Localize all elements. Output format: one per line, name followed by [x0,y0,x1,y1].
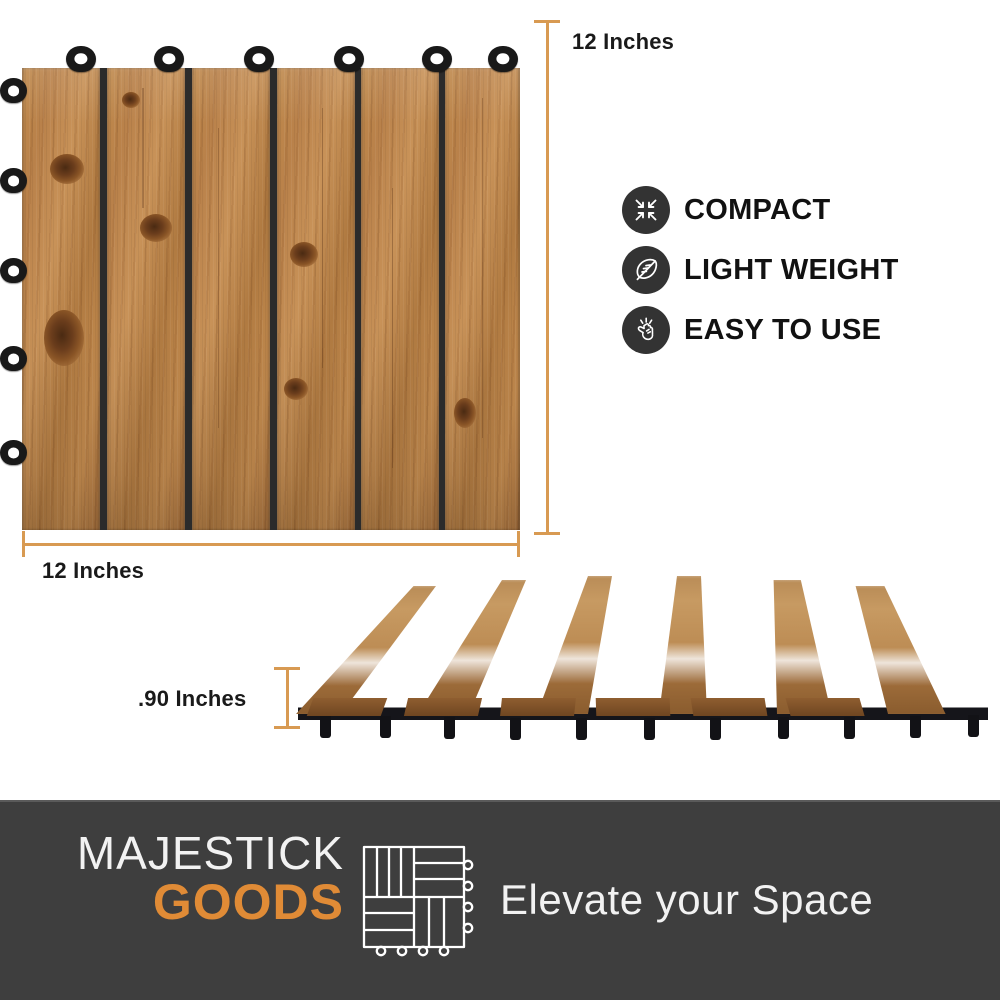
dimension-cap-thickness-bottom [274,726,300,729]
tile-base-foot [380,716,391,738]
connector-loop-icon [0,440,27,465]
connector-loop-icon [244,46,274,72]
brand-name-secondary: GOODS [14,876,344,929]
tile-slat [296,586,436,714]
dimension-line-width [22,543,520,546]
compress-arrows-icon [622,186,670,234]
connector-loop-icon [0,78,27,103]
tile-base-foot [968,715,979,737]
tile-base-foot [910,716,921,738]
feature-label-light-weight: LIGHT WEIGHT [684,254,899,287]
tile-slat [107,68,185,530]
tile-slat-end-face [307,698,388,716]
tile-slat [516,576,666,714]
brand-name-primary: MAJESTICK [14,830,344,876]
tile-slat [816,586,996,714]
tile-base-foot [710,718,721,740]
feature-item-easy-to-use: EASY TO USE [622,300,982,360]
connector-loop-icon [422,46,452,72]
brand-footer-bar: MAJESTICK GOODS [0,800,1000,1000]
tile-slat [22,68,100,530]
connector-loop-icon [0,168,27,193]
tile-top-view-image [22,68,520,530]
tile-base-foot [320,716,331,738]
tile-base-foot [576,718,587,740]
brand-tagline: Elevate your Space [500,876,873,924]
brand-wordmark: MAJESTICK GOODS [14,830,344,929]
tile-base-foot [844,717,855,739]
tile-perspective-view-image [296,556,996,756]
tile-slat-end-face [596,698,671,716]
tile-base-foot [778,717,789,739]
tile-base-foot [444,717,455,739]
tile-slat [626,576,776,714]
feature-item-light-weight: LIGHT WEIGHT [622,240,982,300]
dimension-cap-bottom [534,532,560,535]
connector-loop-icon [0,258,27,283]
tile-slat [406,580,556,714]
dimension-line-height [546,20,549,535]
connector-loop-icon [154,46,184,72]
feather-icon [622,246,670,294]
tile-pattern-logo-icon [358,841,476,964]
feature-item-compact: COMPACT [622,180,982,240]
connector-loop-icon [334,46,364,72]
feature-label-easy-to-use: EASY TO USE [684,314,881,347]
tile-slat-end-face [404,698,482,716]
connector-loop-icon [488,46,518,72]
connector-loop-icon [66,46,96,72]
connector-loop-icon [0,346,27,371]
tile-slat-end-face [691,698,768,716]
product-infographic: 12 Inches 12 Inches COMPACT [0,0,1000,1000]
feature-list: COMPACT LIGHT WEIGHT [622,180,982,360]
dimension-cap-right [517,531,520,557]
tile-slat [445,68,520,530]
tile-slat-end-face [500,698,576,716]
tile-slat [361,68,439,530]
dimension-label-thickness: .90 Inches [138,686,246,712]
dimension-line-thickness [286,667,289,729]
dimension-label-height: 12 Inches [572,29,674,55]
tile-slat-end-face [785,698,864,716]
tile-base-foot [644,718,655,740]
feature-label-compact: COMPACT [684,194,831,227]
dimension-label-width: 12 Inches [42,558,144,584]
tap-hand-icon [622,306,670,354]
tile-base-foot [510,718,521,740]
tile-slat [192,68,270,530]
tile-slat [277,68,355,530]
